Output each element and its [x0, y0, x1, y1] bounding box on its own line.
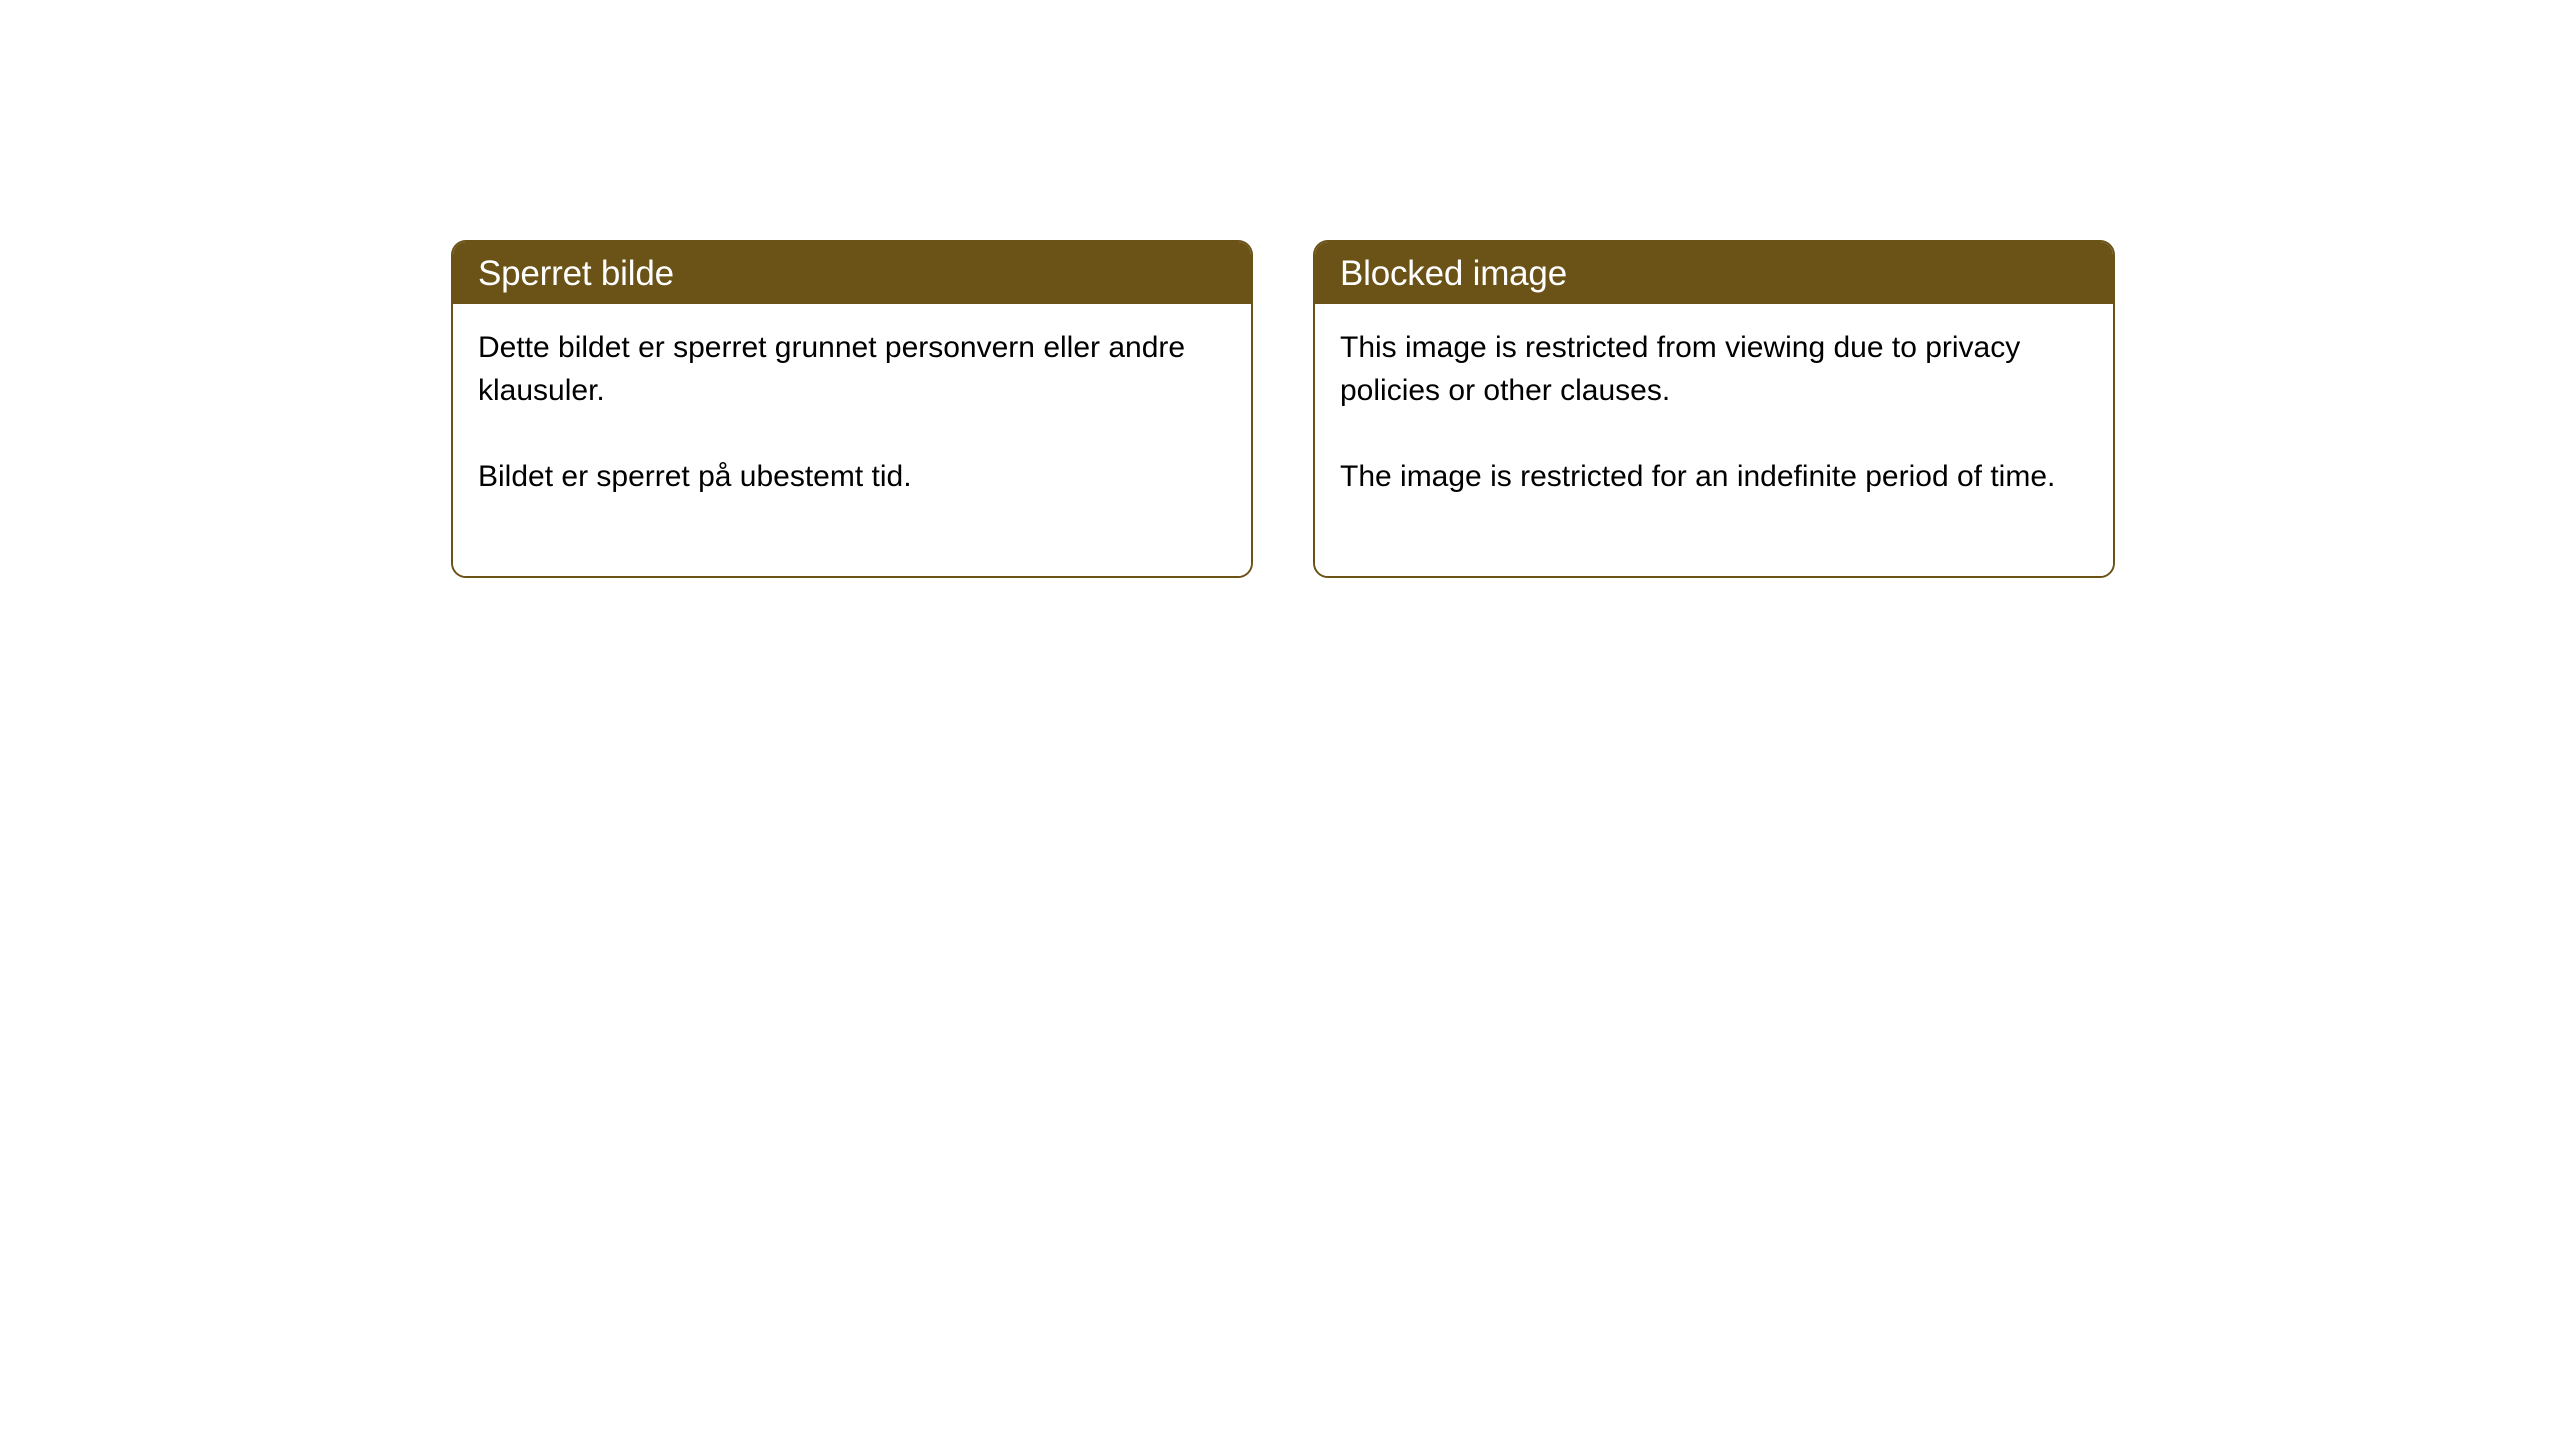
blocked-image-card-group: Sperret bilde Dette bildet er sperret gr…: [451, 240, 2115, 578]
card-header-en: Blocked image: [1315, 242, 2113, 304]
card-body-no: Dette bildet er sperret grunnet personve…: [453, 304, 1251, 576]
card-paragraph-duration-no: Bildet er sperret på ubestemt tid.: [478, 455, 1208, 498]
card-paragraph-reason-en: This image is restricted from viewing du…: [1340, 326, 2070, 412]
blocked-image-card-no: Sperret bilde Dette bildet er sperret gr…: [451, 240, 1253, 578]
card-body-en: This image is restricted from viewing du…: [1315, 304, 2113, 576]
blocked-image-card-en: Blocked image This image is restricted f…: [1313, 240, 2115, 578]
page-root: Sperret bilde Dette bildet er sperret gr…: [0, 0, 2560, 1440]
card-title-en: Blocked image: [1340, 256, 1567, 291]
card-title-no: Sperret bilde: [478, 256, 674, 291]
card-header-no: Sperret bilde: [453, 242, 1251, 304]
card-paragraph-duration-en: The image is restricted for an indefinit…: [1340, 455, 2070, 498]
card-paragraph-reason-no: Dette bildet er sperret grunnet personve…: [478, 326, 1208, 412]
